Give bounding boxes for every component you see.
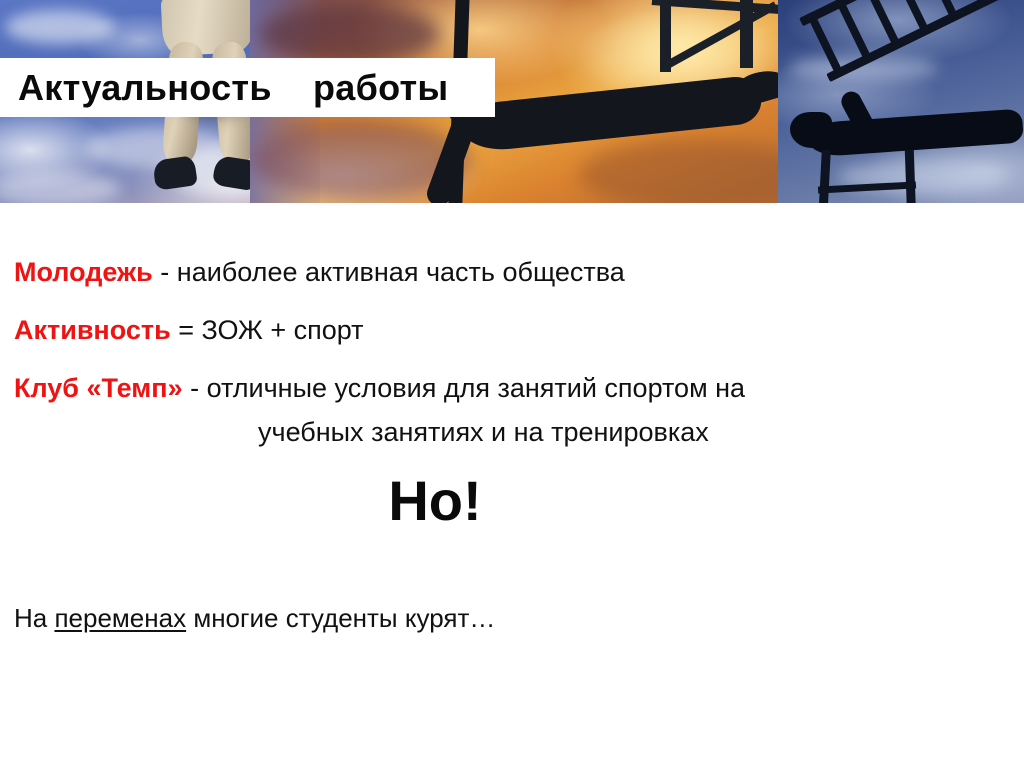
cloud-shape bbox=[260, 4, 440, 64]
shoe-shape bbox=[152, 155, 198, 191]
closing-text-before: На bbox=[14, 603, 54, 633]
bullet-text-activity: = ЗОЖ + спорт bbox=[171, 315, 364, 345]
bullet-line-club: Клуб «Темп» - отличные условия для занят… bbox=[14, 375, 745, 402]
cloud-shape bbox=[580, 140, 778, 203]
cloud-wisp-icon bbox=[5, 10, 115, 44]
page-title: Актуальность работы bbox=[0, 70, 448, 106]
bullet-text-club: - отличные условия для занятий спортом н… bbox=[183, 373, 745, 403]
keyword-club-temp: Клуб «Темп» bbox=[14, 373, 183, 403]
header-image-banner: Актуальность работы bbox=[0, 0, 1024, 203]
cloud-wisp-icon bbox=[0, 172, 120, 203]
body-shape bbox=[807, 109, 1024, 158]
truss-beam-shape bbox=[740, 0, 753, 68]
closing-text-after: многие студенты курят… bbox=[186, 603, 495, 633]
head-shape bbox=[790, 112, 832, 148]
closing-line: На переменах многие студенты курят… bbox=[14, 605, 495, 631]
closing-text-underlined: переменах bbox=[54, 603, 186, 633]
title-band: Актуальность работы bbox=[0, 58, 495, 117]
keyword-youth: Молодежь bbox=[14, 257, 153, 287]
bullet-text-youth: - наиболее активная часть общества bbox=[153, 257, 625, 287]
bullet-line-club-continuation: учебных занятиях и на тренировках bbox=[258, 419, 709, 446]
banner-panel-monkey-bars bbox=[778, 0, 1024, 203]
ladder-rung-shape bbox=[835, 0, 873, 64]
keyword-activity: Активность bbox=[14, 315, 171, 345]
ladder-rung-shape bbox=[893, 0, 931, 36]
ladder-rung-shape bbox=[864, 0, 902, 50]
emphasis-heading: Но! bbox=[0, 473, 870, 529]
slide-body: Молодежь - наиболее активная часть общес… bbox=[0, 203, 1024, 767]
bullet-line-activity: Активность = ЗОЖ + спорт bbox=[14, 317, 364, 344]
bullet-line-youth: Молодежь - наиболее активная часть общес… bbox=[14, 259, 625, 286]
